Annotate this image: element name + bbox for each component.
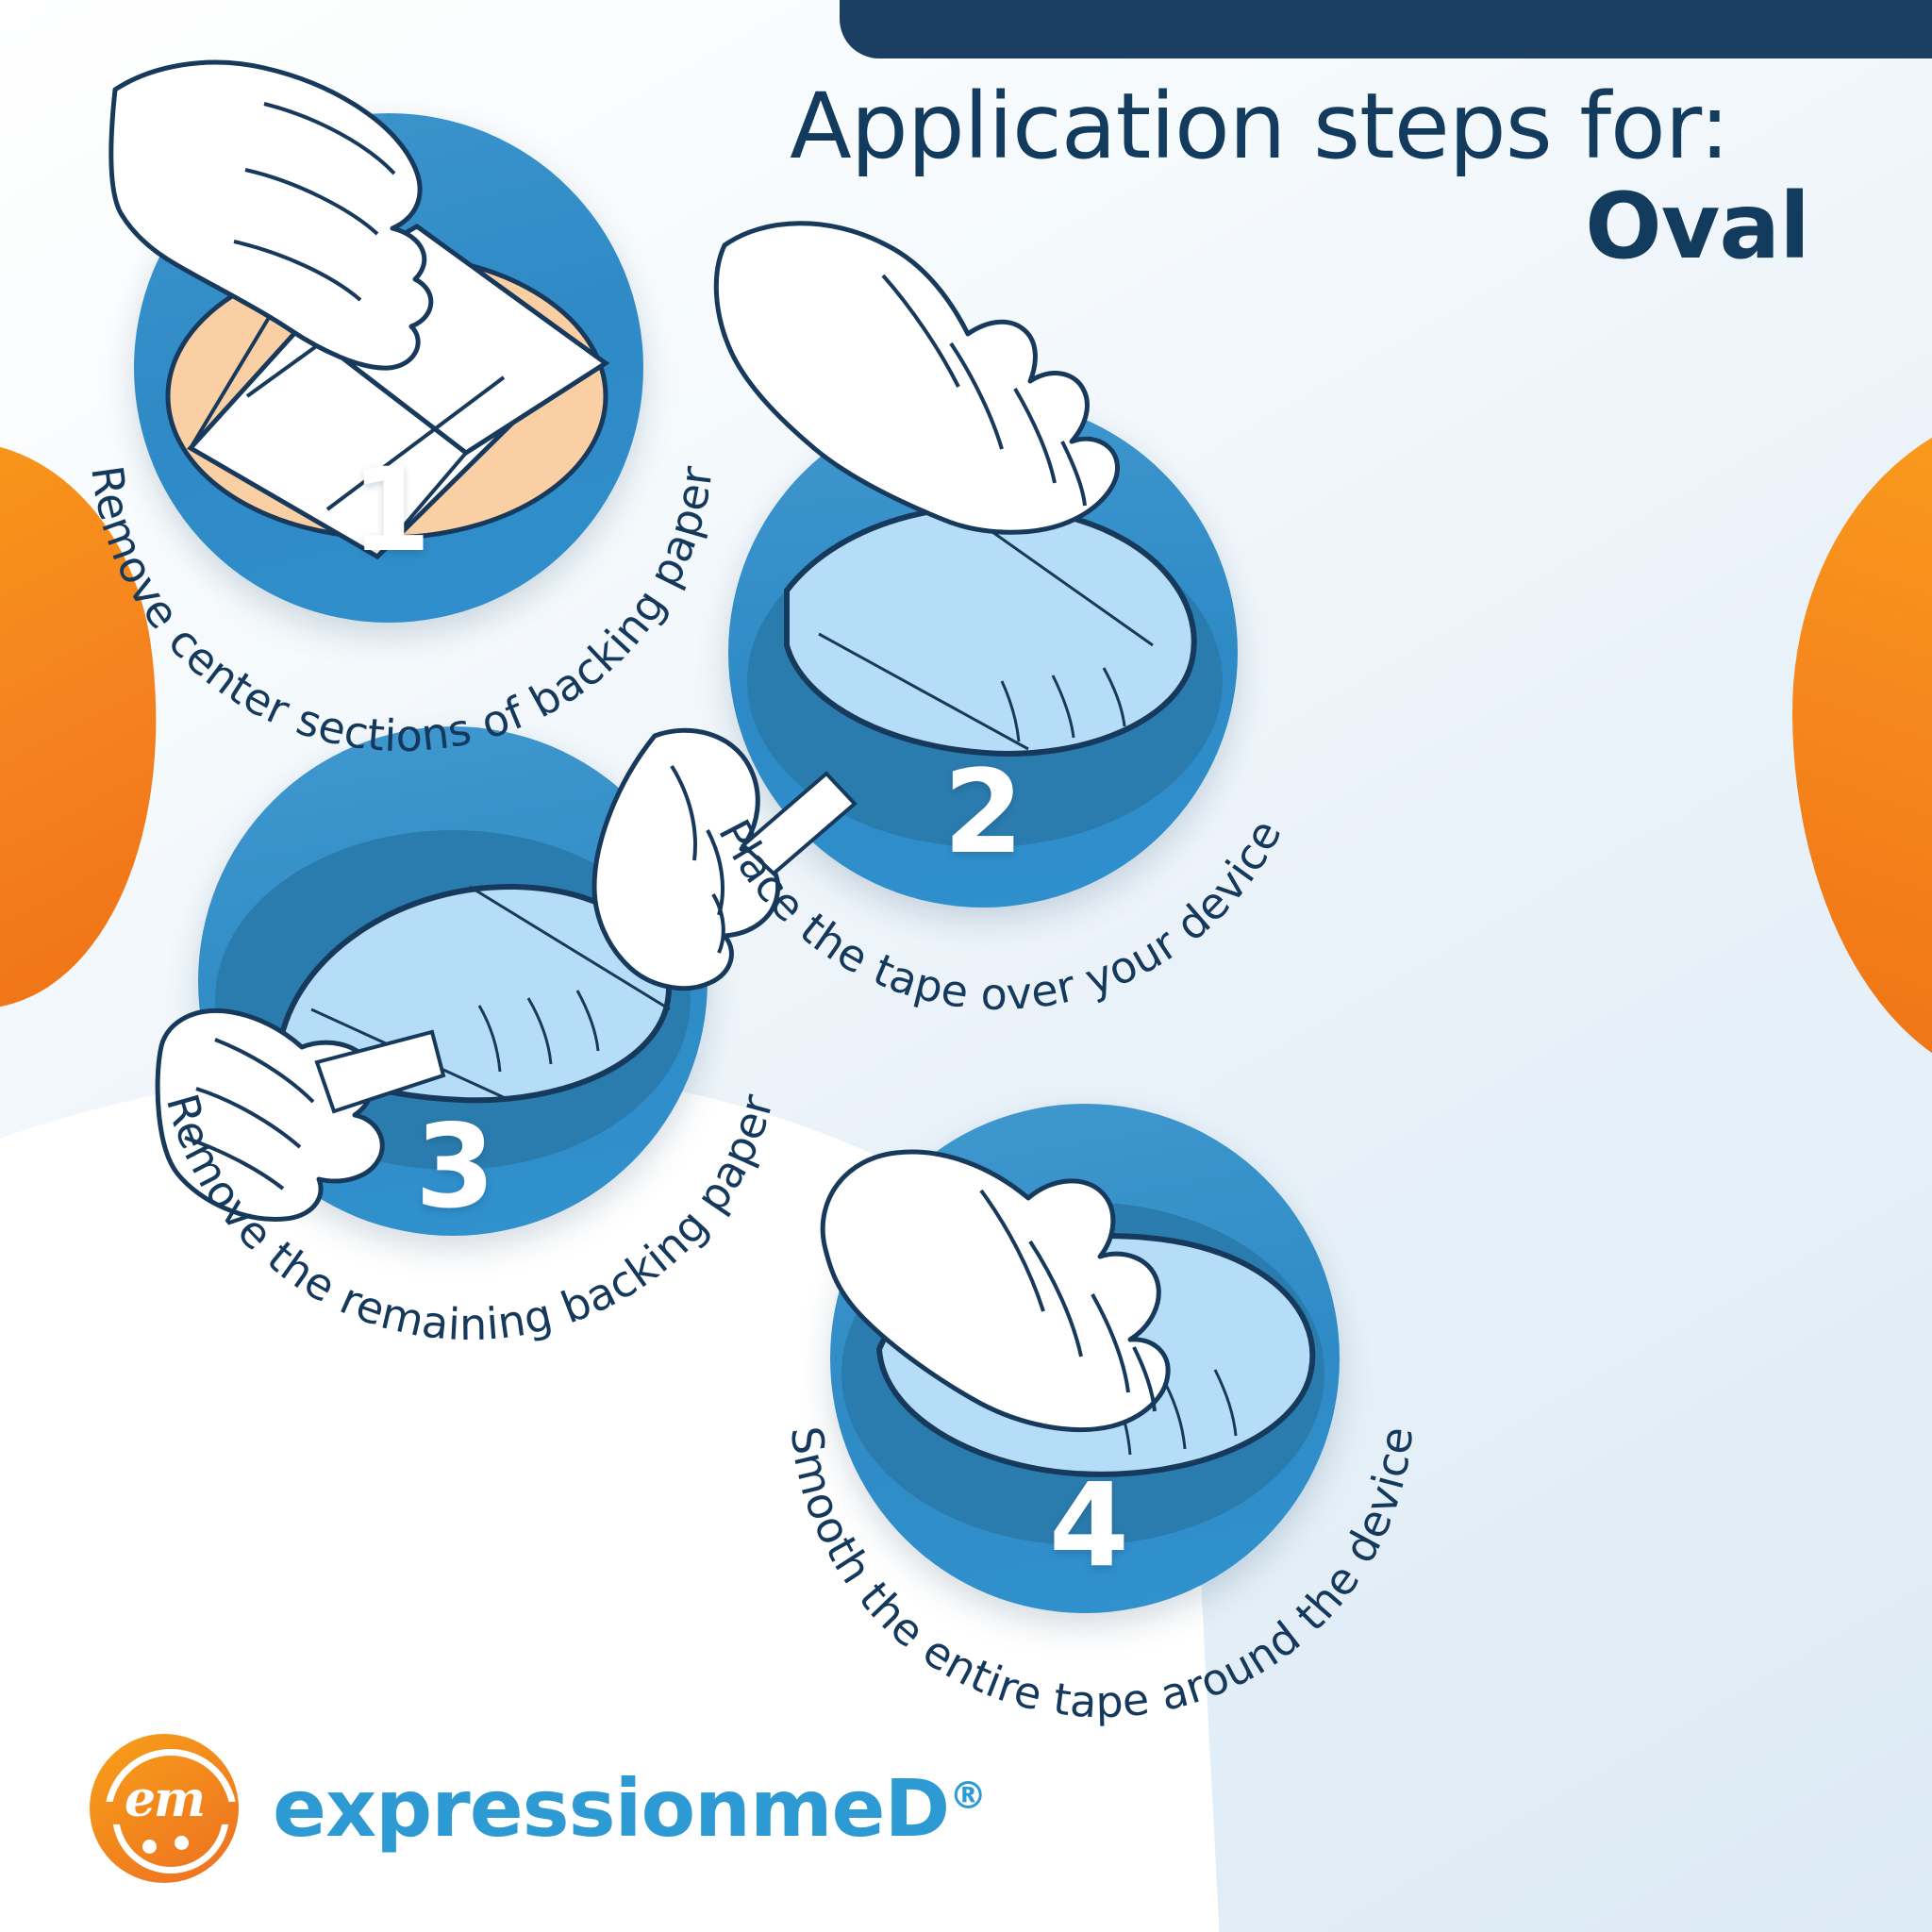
step-3-caption: Remove the remaining backing paper [157, 1089, 783, 1350]
step-3-caption-text: Remove the remaining backing paper [157, 1089, 783, 1350]
step-2-caption-text: Place the tape over your device [708, 811, 1291, 1020]
brand-wordmark: expressionmeD® [273, 1762, 987, 1855]
em-smiley-logo-icon: em [90, 1734, 239, 1883]
logo-monogram: em [90, 1775, 239, 1824]
infographic-canvas: Application steps for: Oval [0, 0, 1932, 1932]
step-1-caption-text: Remove center sections of backing paper [81, 462, 723, 761]
brand-name: expressionmeD [273, 1762, 949, 1855]
step-1-caption: Remove center sections of backing paper [81, 462, 723, 761]
brand-logo: em expressionmeD® [90, 1734, 987, 1883]
logo-dot-left [142, 1840, 157, 1854]
step-4-caption-text: Smooth the entire tape around the device [781, 1424, 1424, 1727]
step-captions-layer: Remove center sections of backing paper … [0, 0, 1932, 1932]
registered-mark: ® [949, 1774, 987, 1818]
step-2-caption: Place the tape over your device [708, 811, 1291, 1020]
step-4-caption: Smooth the entire tape around the device [781, 1424, 1424, 1727]
logo-dot-right [175, 1836, 189, 1850]
